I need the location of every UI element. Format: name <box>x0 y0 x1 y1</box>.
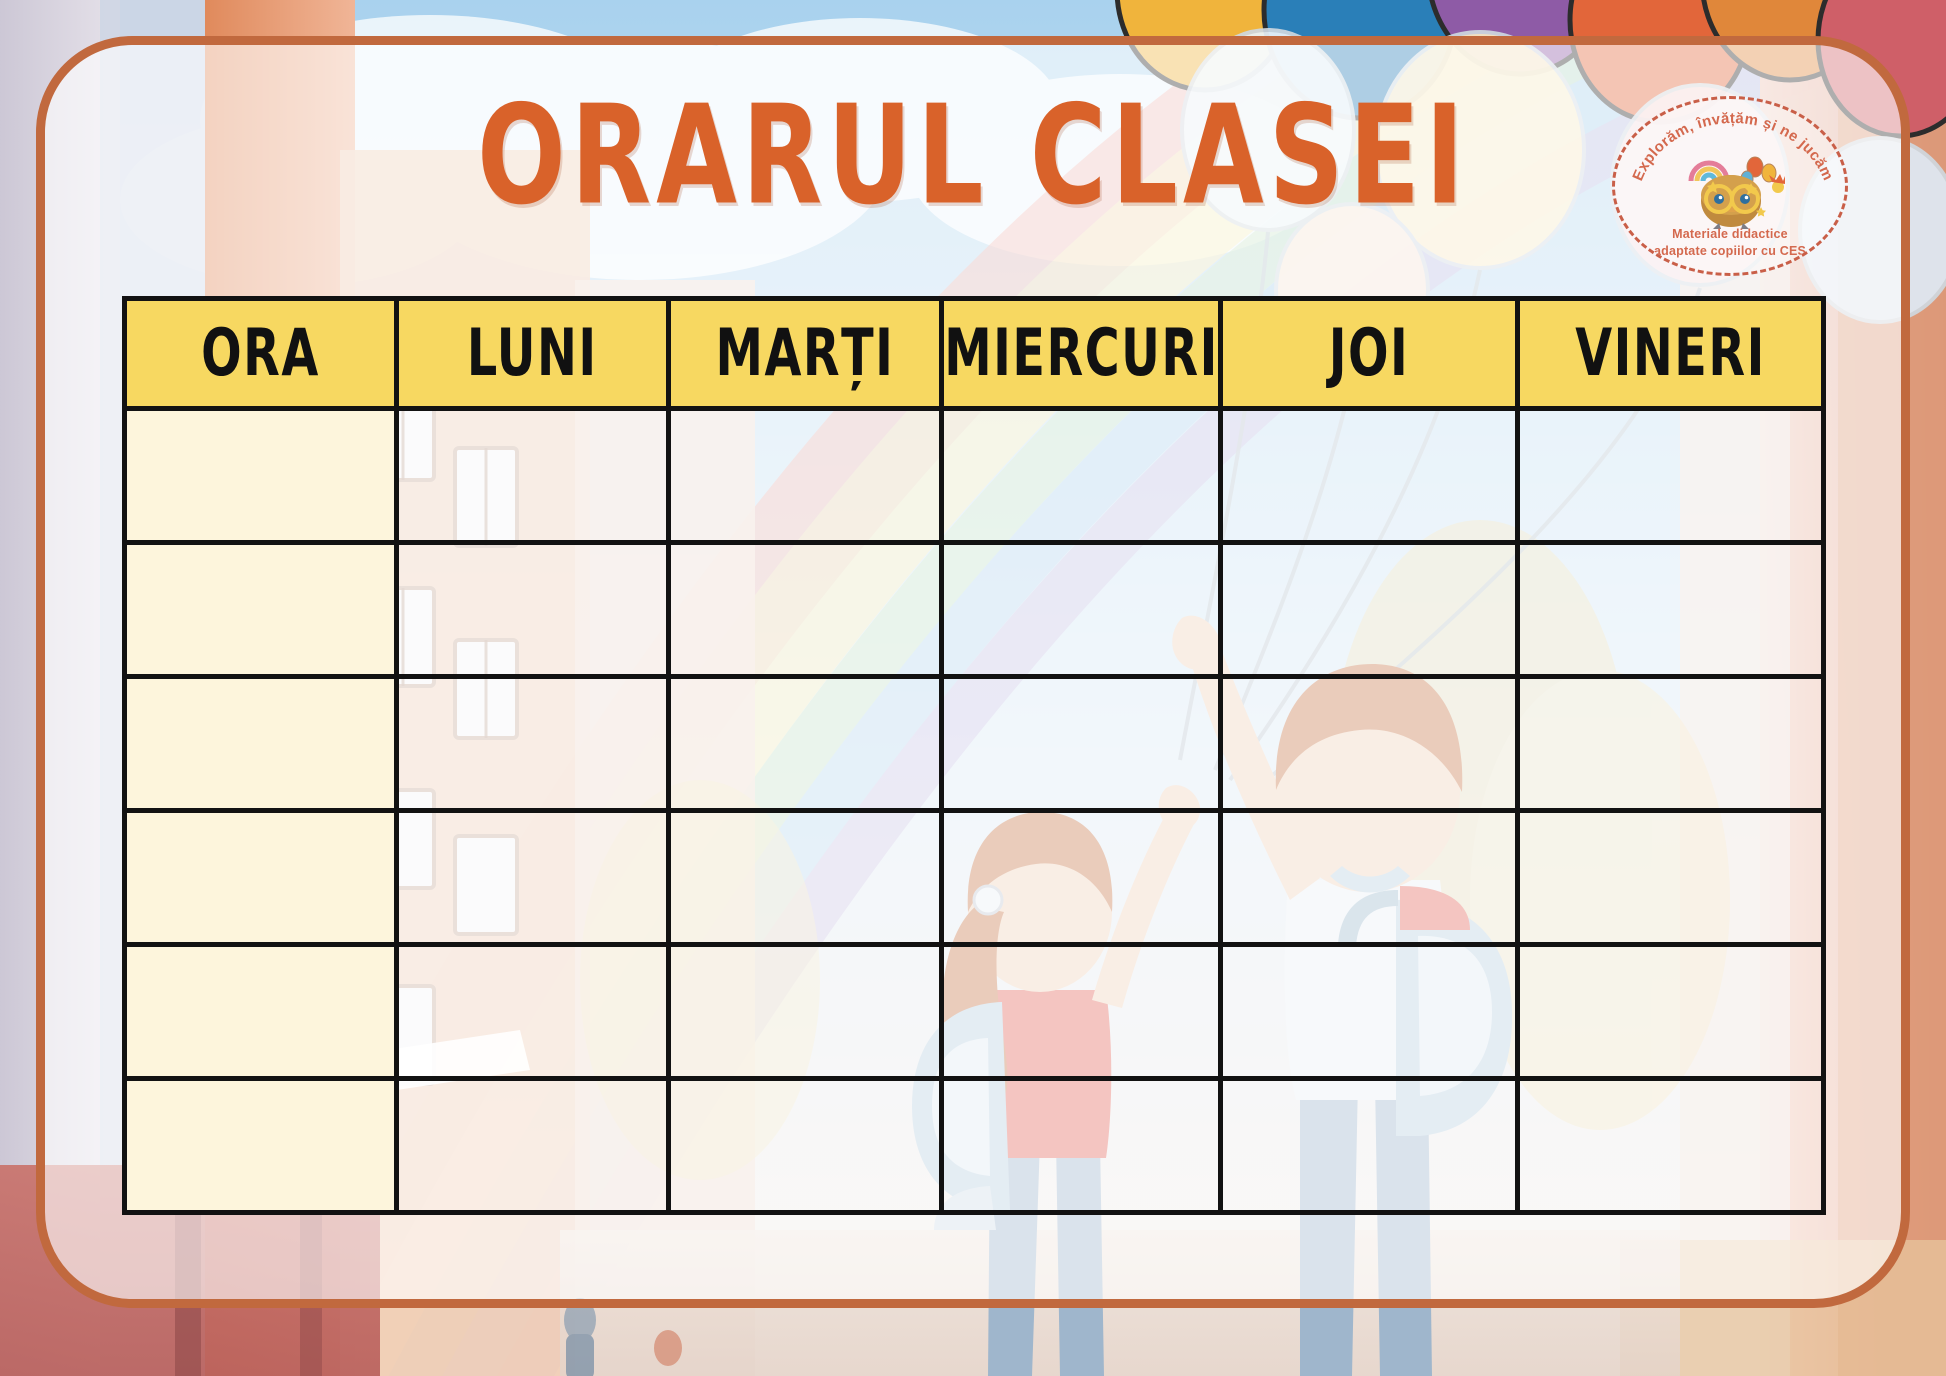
cell-luni[interactable] <box>396 811 668 945</box>
cell-joi[interactable] <box>1220 945 1517 1079</box>
cell-marti[interactable] <box>668 1079 942 1213</box>
cell-luni[interactable] <box>396 543 668 677</box>
logo-subtitle: Materiale didactice adaptate copiilor cu… <box>1615 226 1845 259</box>
cell-ora[interactable] <box>125 677 397 811</box>
column-header-joi-label: JOI <box>1329 316 1409 390</box>
cell-vineri[interactable] <box>1518 1079 1824 1213</box>
cell-miercuri[interactable] <box>942 811 1221 945</box>
schedule-body <box>125 409 1824 1213</box>
logo-subtitle-line1: Materiale didactice <box>1615 226 1845 243</box>
cell-joi[interactable] <box>1220 409 1517 543</box>
schedule-table: ORA LUNI MARȚI MIERCURI JOI VINERI <box>122 296 1826 1215</box>
cell-luni[interactable] <box>396 1079 668 1213</box>
column-header-luni-label: LUNI <box>467 316 598 390</box>
table-row <box>125 1079 1824 1213</box>
owl-mascot-icon <box>1677 151 1789 229</box>
column-header-miercuri: MIERCURI <box>942 299 1221 409</box>
cell-miercuri[interactable] <box>942 1079 1221 1213</box>
cell-marti[interactable] <box>668 677 942 811</box>
cell-marti[interactable] <box>668 409 942 543</box>
cell-vineri[interactable] <box>1518 945 1824 1079</box>
cell-vineri[interactable] <box>1518 811 1824 945</box>
cell-joi[interactable] <box>1220 677 1517 811</box>
cell-miercuri[interactable] <box>942 409 1221 543</box>
cell-vineri[interactable] <box>1518 677 1824 811</box>
table-row <box>125 409 1824 543</box>
column-header-luni: LUNI <box>396 299 668 409</box>
cell-marti[interactable] <box>668 945 942 1079</box>
cell-miercuri[interactable] <box>942 677 1221 811</box>
column-header-marti: MARȚI <box>668 299 942 409</box>
cell-miercuri[interactable] <box>942 945 1221 1079</box>
cell-miercuri[interactable] <box>942 543 1221 677</box>
column-header-ora: ORA <box>125 299 397 409</box>
cell-marti[interactable] <box>668 811 942 945</box>
column-header-ora-label: ORA <box>201 316 320 390</box>
table-row <box>125 677 1824 811</box>
cell-ora[interactable] <box>125 811 397 945</box>
cell-marti[interactable] <box>668 543 942 677</box>
column-header-marti-label: MARȚI <box>715 316 894 390</box>
cell-ora[interactable] <box>125 409 397 543</box>
logo-subtitle-line2: adaptate copiilor cu CES <box>1615 243 1845 260</box>
cell-vineri[interactable] <box>1518 543 1824 677</box>
cell-luni[interactable] <box>396 677 668 811</box>
table-row <box>125 811 1824 945</box>
column-header-vineri-label: VINERI <box>1575 316 1766 390</box>
cell-joi[interactable] <box>1220 543 1517 677</box>
cell-joi[interactable] <box>1220 1079 1517 1213</box>
table-row <box>125 945 1824 1079</box>
cell-joi[interactable] <box>1220 811 1517 945</box>
cell-luni[interactable] <box>396 409 668 543</box>
cell-vineri[interactable] <box>1518 409 1824 543</box>
cell-ora[interactable] <box>125 1079 397 1213</box>
table-row <box>125 543 1824 677</box>
cell-ora[interactable] <box>125 543 397 677</box>
cell-ora[interactable] <box>125 945 397 1079</box>
cell-luni[interactable] <box>396 945 668 1079</box>
brand-logo-badge: Explorăm, învățăm și ne jucăm <box>1612 96 1848 276</box>
schedule-table-container: ORA LUNI MARȚI MIERCURI JOI VINERI <box>122 296 1826 1212</box>
column-header-joi: JOI <box>1220 299 1517 409</box>
column-header-miercuri-label: MIERCURI <box>944 316 1219 390</box>
schedule-header-row: ORA LUNI MARȚI MIERCURI JOI VINERI <box>125 299 1824 409</box>
column-header-vineri: VINERI <box>1518 299 1824 409</box>
